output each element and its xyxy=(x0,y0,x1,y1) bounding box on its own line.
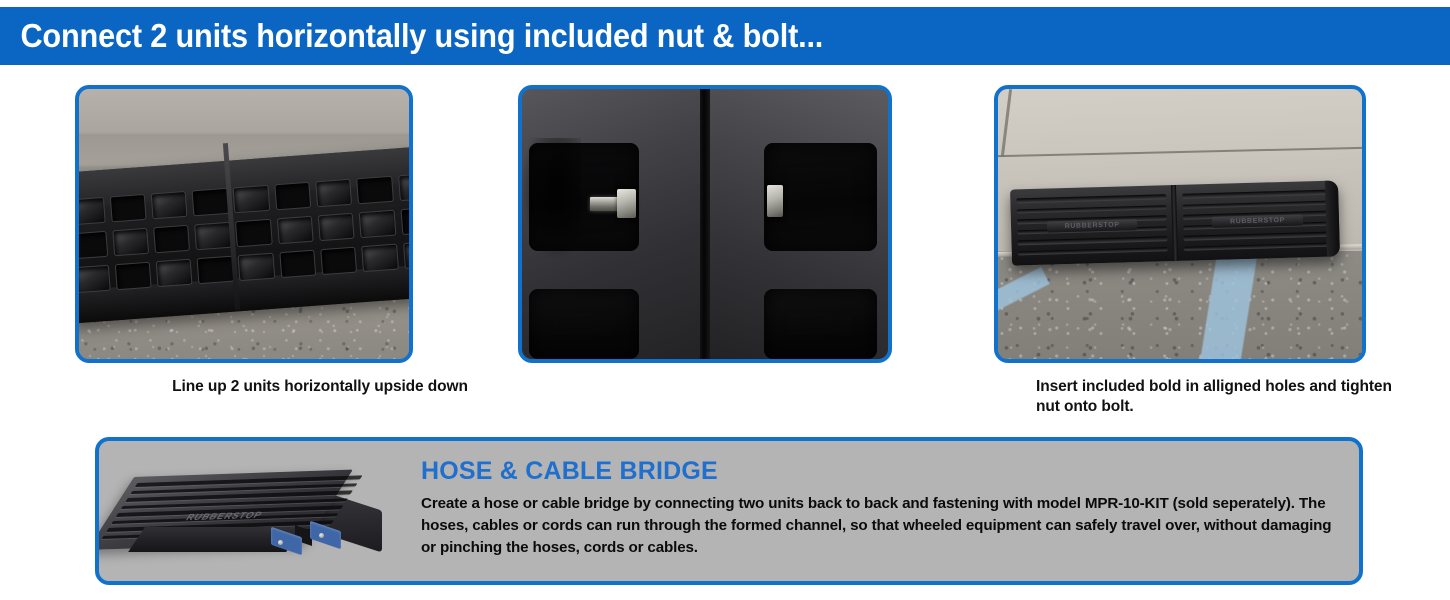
step-2-caption: Insert included bold in alligned holes a… xyxy=(1036,377,1416,418)
bolt-head-icon xyxy=(617,189,636,217)
step-3: RUBBERSTOP RUBBERSTOP Flip right-side up… xyxy=(994,85,1366,363)
step-1-caption: Line up 2 units horizontally upside down xyxy=(120,377,520,397)
bracket-bolt-right-icon xyxy=(319,533,324,538)
step-3-photo: RUBBERSTOP RUBBERSTOP xyxy=(994,85,1366,363)
bolt-shaft xyxy=(590,197,619,211)
step-1-photo xyxy=(75,85,413,363)
cavity-lower-left xyxy=(529,289,639,359)
ramp-half-right: RUBBERSTOP xyxy=(1175,180,1339,260)
product-instruction-graphic: Connect 2 units horizontally using inclu… xyxy=(0,0,1450,600)
hose-cable-bridge-panel: RUBBERSTOP HOSE & CABLE BRIDGE Create a … xyxy=(95,437,1363,585)
ramp-end-cap xyxy=(1324,180,1339,256)
asphalt-texture xyxy=(998,251,1362,359)
hose-cable-bridge-text: HOSE & CABLE BRIDGE Create a hose or cab… xyxy=(409,441,1359,581)
nut-icon xyxy=(767,185,782,217)
ramp-3d-render: RUBBERSTOP xyxy=(117,469,399,573)
ramp-half-left: RUBBERSTOP xyxy=(1010,185,1174,265)
step-2-photo xyxy=(518,85,892,363)
unit-joint-seam xyxy=(700,89,710,359)
assembled-ramp-right-side-up: RUBBERSTOP RUBBERSTOP xyxy=(1010,180,1340,265)
brand-embossing-left: RUBBERSTOP xyxy=(1046,218,1137,232)
banner-title: Connect 2 units horizontally using inclu… xyxy=(0,17,823,55)
hose-cable-bridge-figure: RUBBERSTOP xyxy=(99,441,409,581)
bracket-bolt-left-icon xyxy=(278,540,283,545)
brand-embossing-right: RUBBERSTOP xyxy=(1212,214,1303,228)
hose-cable-bridge-description: Create a hose or cable bridge by connect… xyxy=(421,493,1337,559)
hose-cable-bridge-heading: HOSE & CABLE BRIDGE xyxy=(421,459,1337,484)
header-banner: Connect 2 units horizontally using inclu… xyxy=(0,7,1450,65)
steps-row: Line up 2 units horizontally upside down… xyxy=(0,85,1450,385)
interior-shadow xyxy=(522,138,581,260)
ramp-units-upside-down xyxy=(75,146,413,324)
step-2: Insert included bold in alligned holes a… xyxy=(518,85,892,363)
cavity-lower-right xyxy=(764,289,877,359)
step-1: Line up 2 units horizontally upside down xyxy=(75,85,413,363)
